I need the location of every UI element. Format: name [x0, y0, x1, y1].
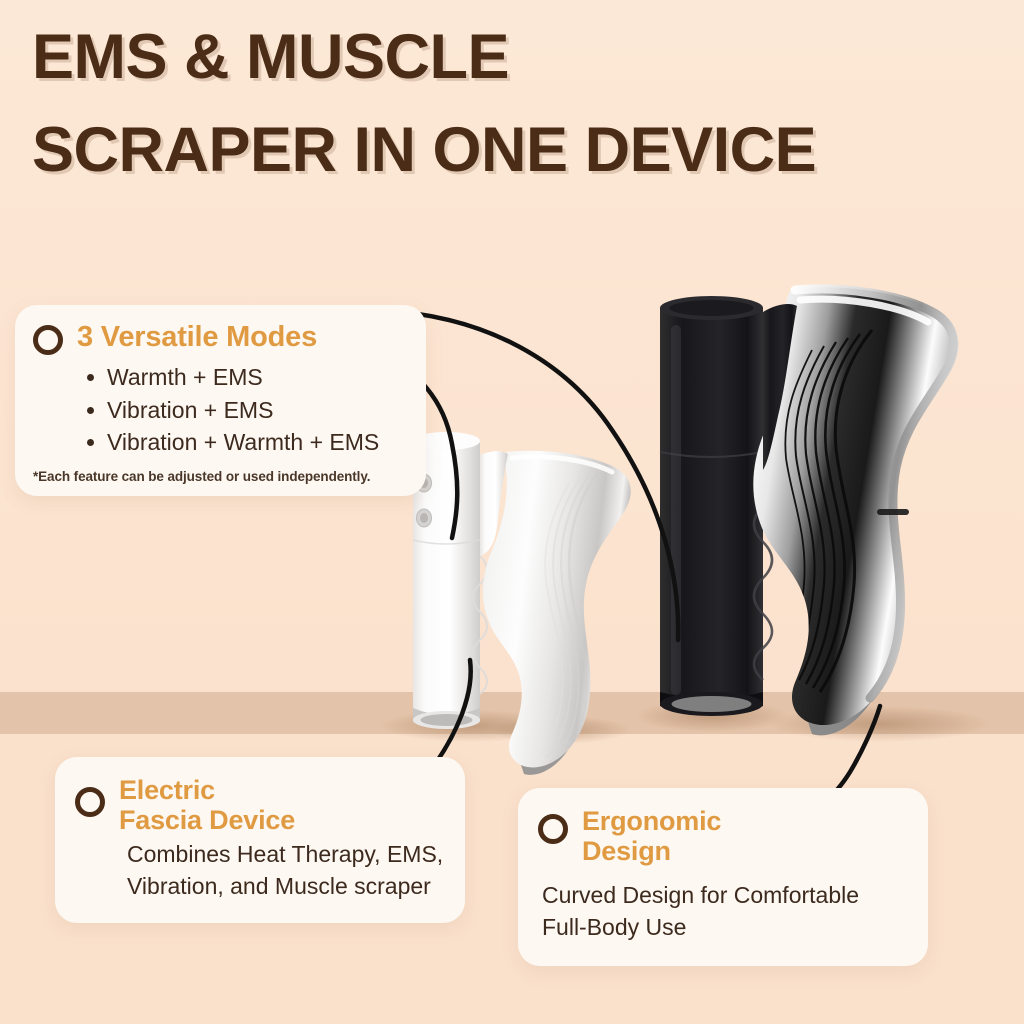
list-item: Vibration + EMS — [85, 394, 408, 427]
modes-footnote: *Each feature can be adjusted or used in… — [33, 469, 408, 484]
headline-line-1: EMS & MUSCLE — [32, 26, 990, 89]
headline: EMS & MUSCLE SCRAPER IN ONE DEVICE — [30, 26, 990, 182]
product-feature-graphic: EMS & MUSCLE SCRAPER IN ONE DEVICE — [0, 0, 1024, 1024]
callout-card-fascia: Electric Fascia Device Combines Heat The… — [55, 757, 465, 923]
card-fascia-title-line-2: Fascia Device — [119, 805, 295, 835]
card-ergo-title-line-1: Ergonomic — [582, 806, 721, 836]
ground-band — [0, 692, 1024, 734]
card-ergo-title-line-2: Design — [582, 836, 671, 866]
ring-bullet-icon — [33, 325, 63, 355]
card-ergo-body: Curved Design for Comfortable Full-Body … — [538, 880, 908, 943]
card-fascia-header: Electric Fascia Device — [75, 775, 445, 835]
card-ergo-header: Ergonomic Design — [538, 806, 908, 866]
ring-bullet-icon — [538, 814, 568, 844]
card-fascia-body: Combines Heat Therapy, EMS, Vibration, a… — [75, 839, 445, 902]
modes-list: Warmth + EMS Vibration + EMS Vibration +… — [33, 361, 408, 459]
list-item: Warmth + EMS — [85, 361, 408, 394]
card-fascia-title: Electric Fascia Device — [119, 775, 295, 835]
list-item: Vibration + Warmth + EMS — [85, 426, 408, 459]
callout-card-ergonomic: Ergonomic Design Curved Design for Comfo… — [518, 788, 928, 966]
card-modes-title: 3 Versatile Modes — [77, 321, 317, 353]
ring-bullet-icon — [75, 787, 105, 817]
card-ergo-title: Ergonomic Design — [582, 806, 721, 866]
card-fascia-title-line-1: Electric — [119, 775, 215, 805]
card-modes-header: 3 Versatile Modes — [33, 321, 408, 355]
callout-card-modes: 3 Versatile Modes Warmth + EMS Vibration… — [15, 305, 426, 496]
headline-line-2: SCRAPER IN ONE DEVICE — [32, 119, 990, 182]
